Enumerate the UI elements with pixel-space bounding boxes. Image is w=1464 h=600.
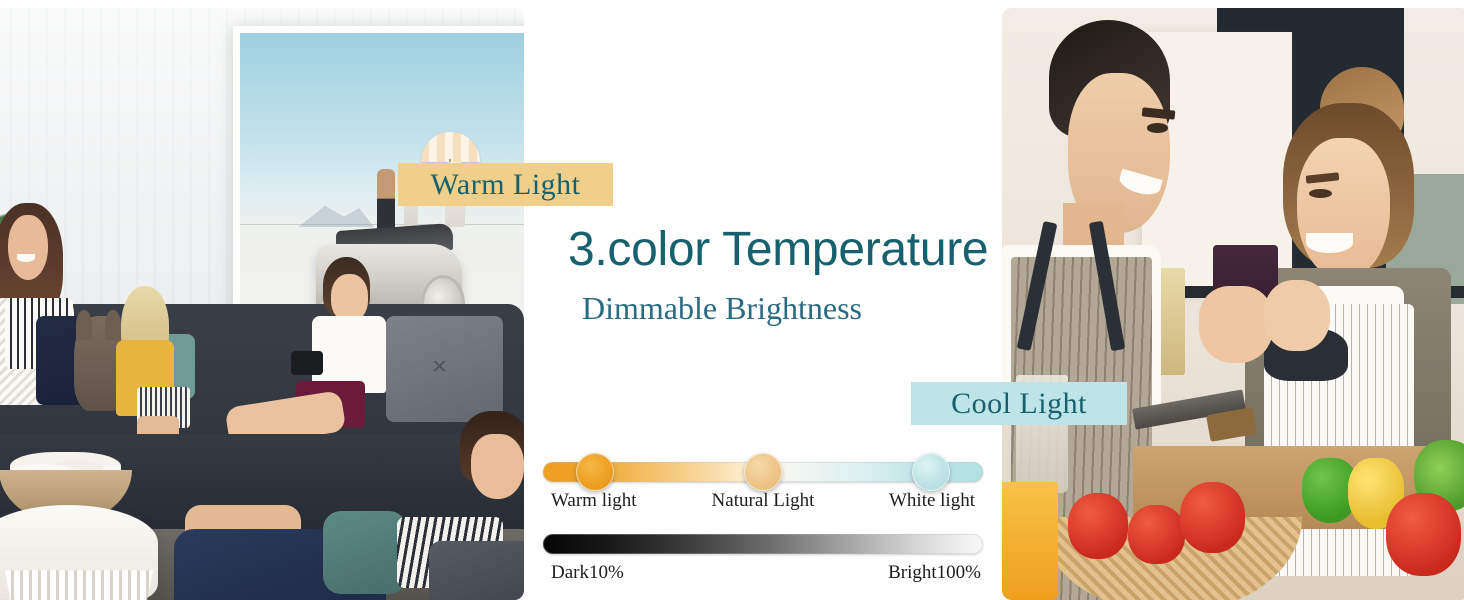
artwork-umbrella [421,132,480,163]
dog-ear-left [76,310,92,340]
label-bright-maximum: Bright100% [888,562,981,584]
woman-smile [1306,233,1353,253]
woman-face [8,215,48,280]
boy-face [331,274,368,321]
label-white-light: White light [889,490,975,512]
left-photo-scene [0,8,524,600]
label-warm-light: Warm light [551,490,637,512]
brightness-labels: Dark10% Bright100% [543,562,983,590]
slider-knob-white-light[interactable] [912,453,950,491]
cool-light-badge: Cool Light [911,382,1127,425]
label-dark-minimum: Dark10% [551,562,624,584]
color-temperature-slider[interactable]: Warm light Natural Light White light [543,462,983,518]
orange-juice-glass [1002,482,1058,600]
color-temperature-labels: Warm light Natural Light White light [543,490,983,518]
teen-face [471,434,524,499]
tomato-3 [1180,482,1246,553]
cushion-grey-front [429,541,524,600]
page-title: 3.color Temperature [568,222,988,277]
dog-ear-right [105,310,121,340]
label-natural-light: Natural Light [712,490,815,512]
warm-light-badge: Warm Light [398,163,613,206]
game-controller [291,351,323,375]
brightness-slider[interactable]: Dark10% Bright100% [543,534,983,590]
man-eye [1147,123,1168,132]
right-photo-scene [1002,8,1464,600]
slider-knob-natural-light[interactable] [744,453,782,491]
woman-hand-left [1199,286,1274,363]
brightness-track[interactable] [543,534,983,554]
table-fringe [5,570,153,600]
woman-hand-right [1264,280,1330,351]
tomato-2 [1128,505,1184,564]
page-subtitle: Dimmable Brightness [582,290,862,327]
left-photo-family-living-room [0,8,524,600]
artwork-person-1 [377,169,395,234]
slider-knob-warm-light[interactable] [576,453,614,491]
tomato-1 [1068,493,1129,558]
cushion-green-front [323,511,408,594]
right-photo-couple-kitchen [1002,8,1464,600]
color-temperature-track[interactable] [543,462,983,482]
cushion-grey-right [386,316,503,423]
tomato-right [1386,493,1461,576]
woman-eye [1309,189,1332,198]
product-feature-banner: Warm Light Cool Light 3.color Temperatur… [0,0,1464,600]
woman-face [1297,138,1391,280]
